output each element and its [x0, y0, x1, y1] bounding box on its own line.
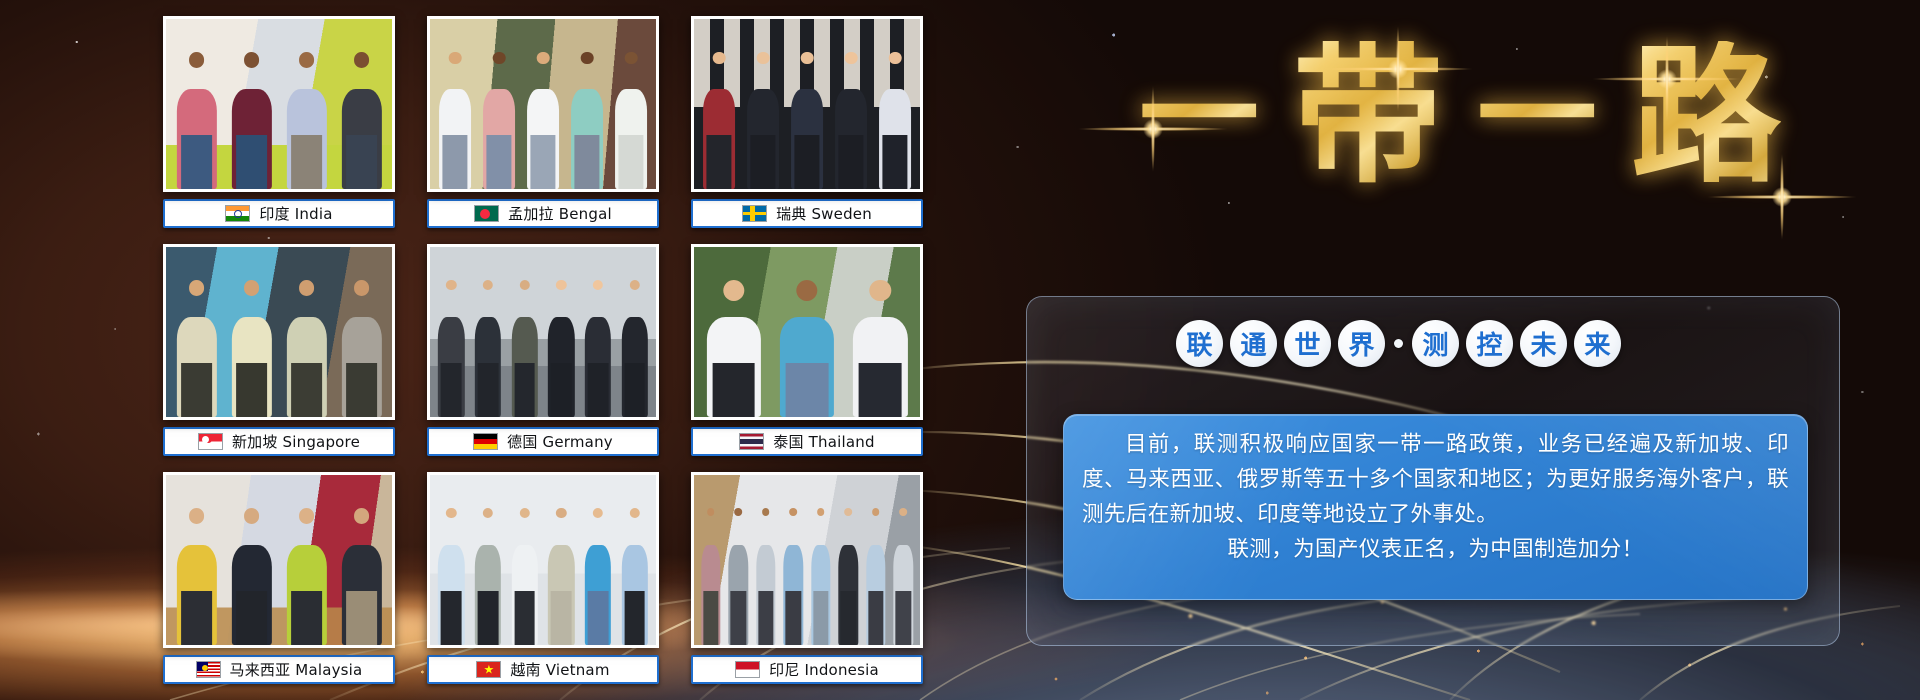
description-closing-line: 联测，为国产仪表正名，为中国制造加分！ [1082, 532, 1789, 567]
flag-malaysia-icon [196, 661, 221, 678]
gallery-cell[interactable]: 印尼 Indonesia [691, 472, 923, 684]
country-label[interactable]: 越南 Vietnam [427, 655, 659, 684]
gallery-cell[interactable]: 印度 India [163, 16, 395, 228]
slogan-char-wei: 未 [1520, 320, 1567, 367]
group-photo-vietnam[interactable] [427, 472, 659, 648]
group-photo-singapore[interactable] [163, 244, 395, 420]
slogan-char-kong: 控 [1466, 320, 1513, 367]
gallery-cell[interactable]: 泰国 Thailand [691, 244, 923, 456]
group-photo-sweden[interactable] [691, 16, 923, 192]
description-blue-box: 目前，联测积极响应国家一带一路政策，业务已经遍及新加坡、印度、马来西亚、俄罗斯等… [1063, 414, 1808, 600]
flag-germany-icon [473, 433, 498, 450]
company-slogan: 联 通 世 界 测 控 未 来 [1176, 320, 1621, 367]
country-label-text: 孟加拉 Bengal [508, 203, 612, 224]
slogan-char-jie: 界 [1338, 320, 1385, 367]
gallery-cell[interactable]: 孟加拉 Bengal [427, 16, 659, 228]
flag-singapore-icon [198, 433, 223, 450]
country-label[interactable]: 印尼 Indonesia [691, 655, 923, 684]
group-photo-thailand[interactable] [691, 244, 923, 420]
country-label-text: 德国 Germany [507, 431, 613, 452]
country-label[interactable]: 新加坡 Singapore [163, 427, 395, 456]
country-label[interactable]: 孟加拉 Bengal [427, 199, 659, 228]
flag-bangladesh-icon [474, 205, 499, 222]
sparkle-flare-icon [1781, 196, 1783, 198]
country-label-text: 新加坡 Singapore [232, 431, 360, 452]
gallery-cell[interactable]: 德国 Germany [427, 244, 659, 456]
description-paragraph: 目前，联测积极响应国家一带一路政策，业务已经遍及新加坡、印度、马来西亚、俄罗斯等… [1082, 427, 1789, 532]
slogan-char-tong: 通 [1230, 320, 1277, 367]
group-photo-germany[interactable] [427, 244, 659, 420]
slogan-char-ce: 测 [1412, 320, 1459, 367]
slogan-separator-dot [1394, 339, 1403, 348]
flag-india-icon [225, 205, 250, 222]
calligraphy-char-yi-1: 一 [1139, 56, 1259, 176]
sparkle-flare-icon [1397, 68, 1399, 70]
country-label-text: 泰国 Thailand [773, 431, 874, 452]
country-label-text: 印尼 Indonesia [769, 659, 879, 680]
calligraphy-char-yi-2: 一 [1477, 56, 1597, 176]
gallery-cell[interactable]: 越南 Vietnam [427, 472, 659, 684]
country-label-text: 马来西亚 Malaysia [230, 659, 363, 680]
group-photo-indonesia[interactable] [691, 472, 923, 648]
belt-and-road-calligraphy-title: 一 带 一 路 [1030, 8, 1890, 223]
gallery-cell[interactable]: 马来西亚 Malaysia [163, 472, 395, 684]
sparkle-flare-icon [1666, 78, 1668, 80]
country-gallery-grid: 印度 India 孟加拉 Bengal [163, 16, 923, 684]
sparkle-flare-icon [1152, 128, 1154, 130]
slogan-char-shi: 世 [1284, 320, 1331, 367]
belt-and-road-banner: 印度 India 孟加拉 Bengal [0, 0, 1920, 700]
country-label-text: 印度 India [259, 203, 332, 224]
country-label-text: 瑞典 Sweden [776, 203, 872, 224]
country-label[interactable]: 马来西亚 Malaysia [163, 655, 395, 684]
flag-sweden-icon [742, 205, 767, 222]
slogan-char-lai: 来 [1574, 320, 1621, 367]
flag-indonesia-icon [735, 661, 760, 678]
calligraphy-char-lu: 路 [1631, 41, 1781, 191]
calligraphy-char-dai: 带 [1293, 41, 1443, 191]
group-photo-india[interactable] [163, 16, 395, 192]
group-photo-bangladesh[interactable] [427, 16, 659, 192]
gallery-cell[interactable]: 瑞典 Sweden [691, 16, 923, 228]
flag-vietnam-icon [476, 661, 501, 678]
country-label[interactable]: 德国 Germany [427, 427, 659, 456]
gallery-cell[interactable]: 新加坡 Singapore [163, 244, 395, 456]
country-label[interactable]: 瑞典 Sweden [691, 199, 923, 228]
country-label[interactable]: 印度 India [163, 199, 395, 228]
country-label[interactable]: 泰国 Thailand [691, 427, 923, 456]
country-label-text: 越南 Vietnam [510, 659, 609, 680]
group-photo-malaysia[interactable] [163, 472, 395, 648]
flag-thailand-icon [739, 433, 764, 450]
slogan-char-lian: 联 [1176, 320, 1223, 367]
